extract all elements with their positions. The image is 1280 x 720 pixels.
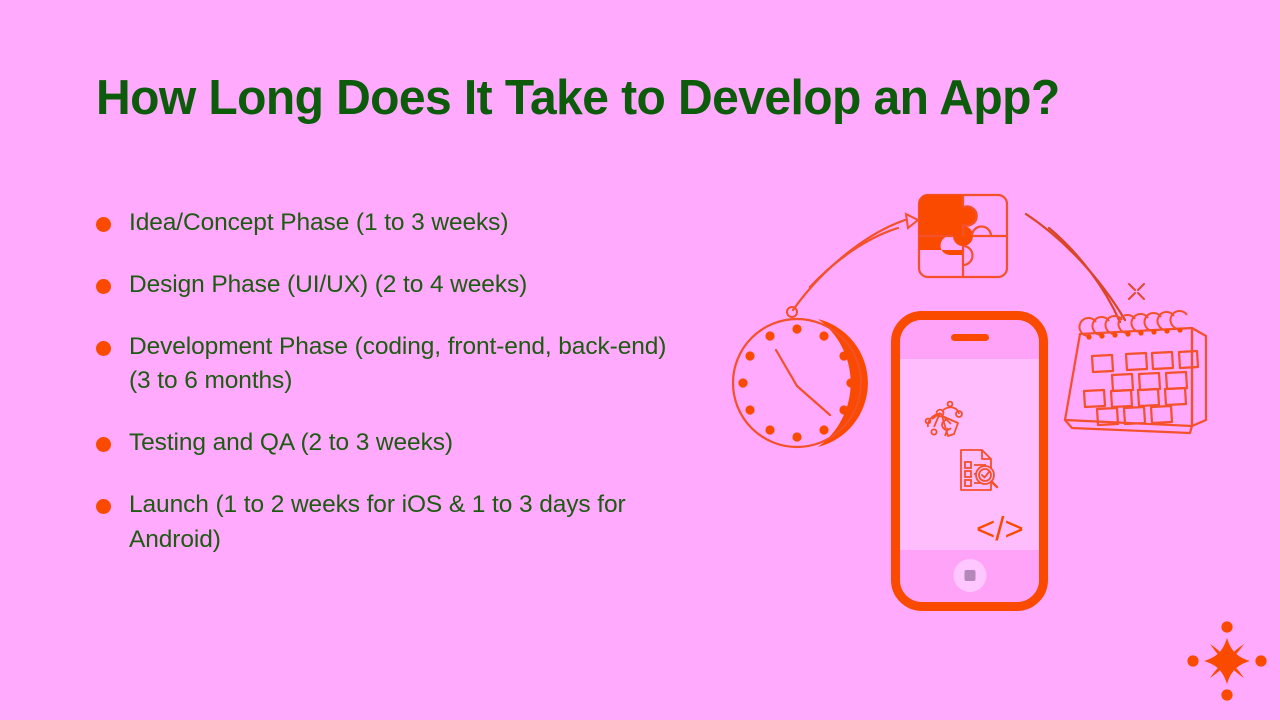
phone-mockup: </> [891, 311, 1048, 611]
code-brackets-icon: </> [976, 512, 1024, 545]
list-item: Design Phase (UI/UX) (2 to 4 weeks) [96, 268, 716, 303]
slide-canvas: How Long Does It Take to Develop an App?… [0, 0, 1280, 720]
bullet-dot-icon [96, 217, 111, 232]
phone-speaker-icon [951, 334, 989, 341]
puzzle-icon [919, 195, 1007, 277]
calendar-icon [1065, 311, 1206, 433]
bullet-dot-icon [96, 341, 111, 356]
list-item-label: Testing and QA (2 to 3 weeks) [129, 426, 453, 461]
document-review-icon [955, 446, 1003, 499]
pen-tool-icon [918, 392, 970, 449]
list-item: Idea/Concept Phase (1 to 3 weeks) [96, 206, 716, 241]
page-title: How Long Does It Take to Develop an App? [96, 72, 1184, 125]
bullet-dot-icon [96, 437, 111, 452]
list-item: Launch (1 to 2 weeks for iOS & 1 to 3 da… [96, 488, 716, 558]
phase-list: Idea/Concept Phase (1 to 3 weeks) Design… [96, 206, 716, 584]
phone-home-button-inner [964, 570, 975, 581]
list-item: Development Phase (coding, front-end, ba… [96, 330, 716, 400]
clock-icon [729, 315, 868, 451]
list-item-label: Idea/Concept Phase (1 to 3 weeks) [129, 206, 508, 241]
list-item-label: Development Phase (coding, front-end, ba… [129, 330, 689, 400]
bullet-dot-icon [96, 499, 111, 514]
sparkle-icon [1129, 284, 1144, 299]
arrow-left-endpoint [787, 307, 797, 317]
phone-home-button[interactable] [953, 559, 986, 592]
list-item: Testing and QA (2 to 3 weeks) [96, 426, 716, 461]
arrow-left-curve [793, 214, 918, 310]
list-item-label: Design Phase (UI/UX) (2 to 4 weeks) [129, 268, 527, 303]
arrow-right-curve [1026, 214, 1125, 322]
list-item-label: Launch (1 to 2 weeks for iOS & 1 to 3 da… [129, 488, 689, 558]
bullet-dot-icon [96, 279, 111, 294]
four-point-star-logo [1186, 620, 1268, 702]
